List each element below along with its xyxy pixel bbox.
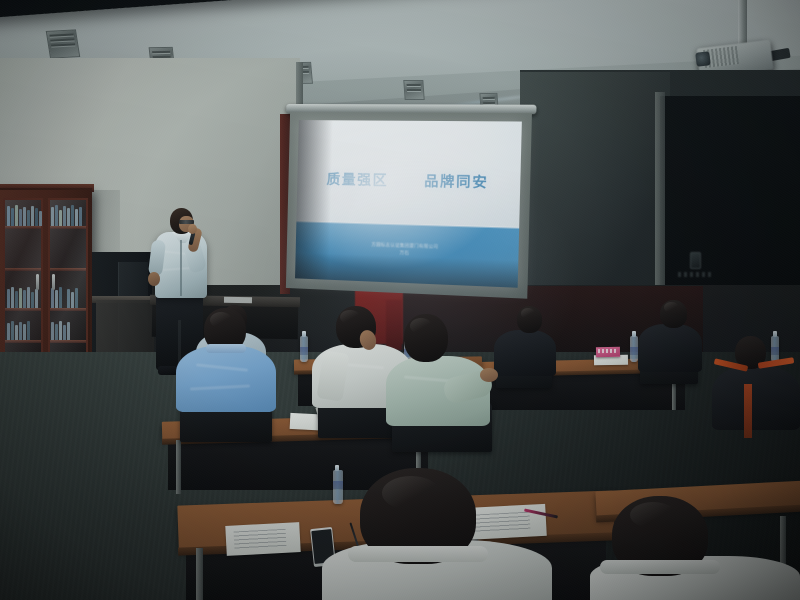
attendee-hand [480,368,498,382]
water-bottle[interactable] [630,336,638,362]
hair-highlight [210,312,232,328]
bookcase-door-right[interactable] [48,198,88,357]
slide-title-left: 质量强区 [326,168,388,190]
attendee-torso [494,330,556,376]
handout-paper[interactable] [224,297,252,303]
projected-slide: 质量强区 品牌同安 方圆标志认证集团厦门有限公司 万石 [295,120,522,288]
presenter-shoe [158,366,178,375]
red-panel-shadow [386,300,402,350]
shirt-collar [206,344,246,353]
water-bottle[interactable] [300,336,308,362]
projector-mount-pole [738,0,747,46]
projection-screen: 质量强区 品牌同安 方圆标志认证集团厦门有限公司 万石 [286,112,532,299]
hair-highlight [521,308,535,319]
desk-leg [176,440,181,494]
screen-border: 质量强区 品牌同安 方圆标志认证集团厦门有限公司 万石 [286,112,532,299]
water-bottle[interactable] [333,470,343,504]
handwriting [472,512,531,533]
orange-vest-strap [744,384,752,438]
handwriting [234,529,287,550]
shirt-collar [348,546,488,562]
hair-highlight [664,302,679,313]
hair-highlight [630,502,676,528]
name-card-tent[interactable] [596,347,620,357]
desk-leg [196,548,203,600]
shirt-collar [600,560,720,574]
hair-highlight [382,476,440,510]
ceiling-air-vent-icon [403,80,424,100]
projector-lens-icon [695,51,711,67]
attendee-torso [638,324,702,372]
presenter-shirt-placket [180,240,182,296]
door-frame [655,92,665,292]
presenter-right-hand [188,224,197,234]
attendee-torso [712,366,800,430]
handout-paper[interactable] [225,522,300,556]
bookcase-door-left[interactable] [3,198,43,357]
bookcase-glass-pane [50,200,86,355]
hair-highlight [340,310,360,324]
wall-sign-text [678,272,712,277]
presenter-left-hand [148,272,160,286]
wall-highlight [520,72,670,302]
photo-scene: 质量强区 品牌同安 方圆标志认证集团厦门有限公司 万石 [0,0,800,600]
wall-switch-plate[interactable] [690,252,701,269]
slide-title-right: 品牌同安 [424,170,489,192]
ceiling-air-vent-icon [46,29,81,58]
bookcase-handle[interactable] [36,274,39,290]
bookcase-handle[interactable] [52,274,55,290]
glass-door-bookcase[interactable] [0,188,92,363]
attendee-torso [176,346,276,412]
water-bottle[interactable] [771,336,779,362]
hair-highlight [410,318,432,334]
